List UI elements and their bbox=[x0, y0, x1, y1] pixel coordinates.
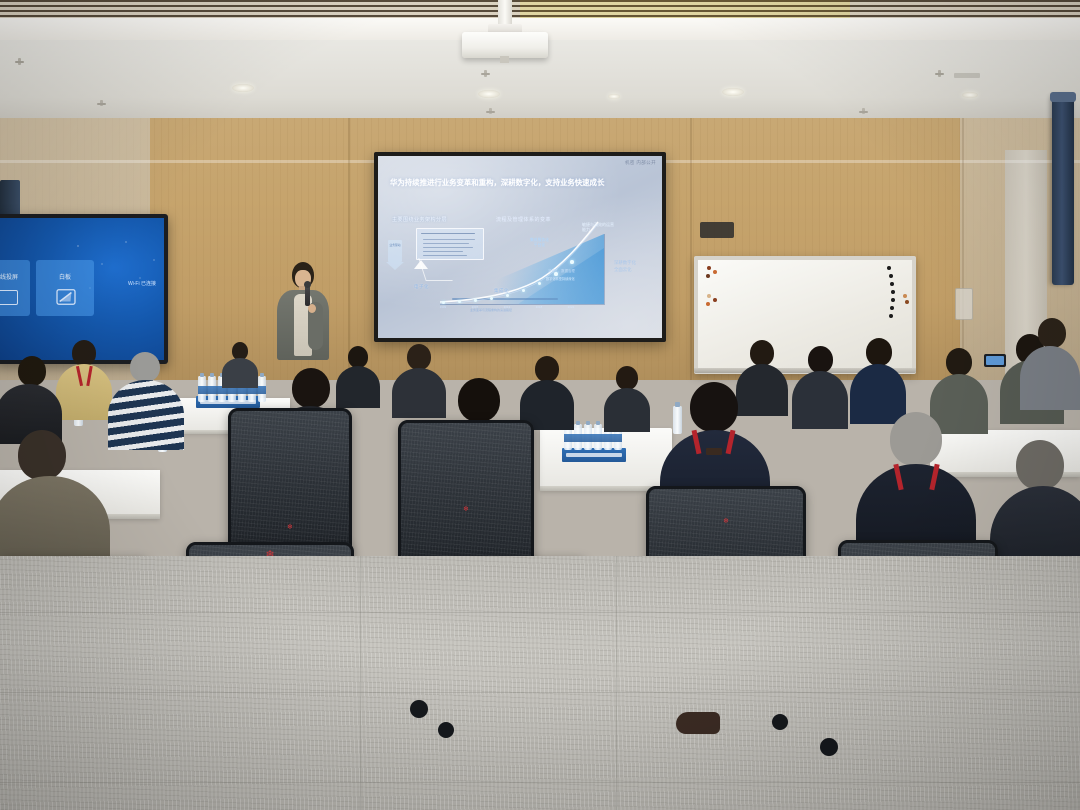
whiteboard-magnet[interactable] bbox=[707, 266, 711, 270]
whiteboard-magnet[interactable] bbox=[713, 270, 717, 274]
downlight bbox=[608, 94, 620, 99]
attendee bbox=[110, 352, 182, 448]
badge-clip bbox=[706, 448, 722, 455]
bottle-label-band bbox=[564, 434, 622, 442]
whiteboard-magnet[interactable] bbox=[890, 282, 894, 286]
wall-vent-grille bbox=[700, 222, 734, 238]
table-sign-text bbox=[566, 453, 622, 457]
attendee-torso bbox=[56, 364, 112, 420]
chair-caster bbox=[772, 714, 788, 730]
whiteboard-magnet[interactable] bbox=[890, 306, 894, 310]
attendee-head bbox=[407, 344, 431, 370]
chair-caster bbox=[820, 738, 838, 756]
attendee bbox=[792, 346, 848, 426]
carpet-floor bbox=[0, 556, 1080, 810]
projector-brand-label bbox=[954, 73, 980, 78]
wall-speaker-bracket bbox=[1050, 92, 1076, 102]
chair-caster bbox=[410, 700, 428, 718]
attendee bbox=[0, 356, 62, 440]
attendee-head bbox=[72, 340, 96, 366]
screen-glare bbox=[378, 156, 662, 338]
projection-screen: 机密 内部公开 华为持续推进行业务变革和重构，深耕数字化，支持业务快速成长 主要… bbox=[378, 156, 662, 338]
whiteboard-magnet[interactable] bbox=[706, 274, 710, 278]
attendee-head bbox=[292, 368, 330, 408]
attendee-torso bbox=[222, 358, 258, 388]
wall-speaker bbox=[1052, 95, 1074, 285]
attendee-torso bbox=[604, 388, 650, 432]
huawei-logo-icon: ❄ bbox=[287, 524, 293, 531]
whiteboard-magnet[interactable] bbox=[713, 298, 717, 302]
bottle-cap bbox=[200, 373, 204, 377]
sprinkler-head bbox=[484, 70, 487, 77]
conference-room-photo: 机密 内部公开 华为持续推进行业务变革和重构，深耕数字化，支持业务快速成长 主要… bbox=[0, 0, 1080, 810]
huawei-logo-icon: ❄ bbox=[723, 518, 729, 525]
whiteboard-magnet[interactable] bbox=[707, 294, 711, 298]
whiteboard-magnet[interactable] bbox=[887, 266, 891, 270]
wall-panel-seam bbox=[348, 118, 350, 380]
carpet-tile-seam bbox=[0, 612, 1080, 613]
attendee bbox=[1020, 318, 1080, 408]
whiteboard-magnet[interactable] bbox=[891, 290, 895, 294]
wall-control-panel[interactable] bbox=[955, 288, 973, 320]
attendee-head bbox=[866, 338, 892, 366]
bottle-cap bbox=[210, 373, 214, 377]
bottle-cap bbox=[596, 421, 600, 425]
attendee-head bbox=[18, 356, 46, 386]
attendee bbox=[850, 338, 906, 422]
attendee bbox=[222, 342, 258, 386]
display-tile-whiteboard-label: 白板 bbox=[36, 272, 94, 281]
display-tile-whiteboard[interactable]: 白板 bbox=[36, 260, 94, 316]
attendee-head bbox=[458, 378, 500, 422]
whiteboard-magnet[interactable] bbox=[889, 274, 893, 278]
attendee-head bbox=[1038, 318, 1066, 348]
display-status-label: Wi-Fi 已连接 bbox=[128, 280, 156, 287]
whiteboard-magnet[interactable] bbox=[903, 294, 907, 298]
carpet-tile-seam bbox=[616, 556, 617, 810]
attendee bbox=[604, 366, 650, 428]
whiteboard-magnet[interactable] bbox=[889, 314, 893, 318]
attendee bbox=[56, 340, 112, 420]
chair-backrest: ❄ bbox=[228, 408, 352, 554]
whiteboard-magnet[interactable] bbox=[905, 300, 909, 304]
attendee-head bbox=[750, 340, 774, 366]
carpet-tile-seam bbox=[0, 782, 1080, 783]
whiteboard-magnet[interactable] bbox=[891, 298, 895, 302]
shoe bbox=[676, 712, 720, 734]
sprinkler-head bbox=[100, 100, 103, 106]
bottle-cap bbox=[260, 373, 264, 377]
office-chair[interactable]: ❄ bbox=[228, 408, 352, 554]
microphone-head bbox=[304, 281, 311, 288]
whiteboard-magnet[interactable] bbox=[706, 302, 710, 306]
presenter bbox=[272, 262, 334, 360]
carpet-tile-seam bbox=[360, 556, 361, 810]
whiteboard-icon bbox=[55, 288, 77, 306]
sprinkler-head bbox=[18, 58, 21, 65]
downlight bbox=[232, 84, 254, 92]
attendee-head bbox=[18, 430, 66, 480]
attendee-head bbox=[808, 346, 833, 373]
attendee-head bbox=[946, 348, 972, 376]
wall-panel-seam bbox=[962, 118, 964, 380]
downlight bbox=[722, 88, 744, 96]
attendee-head bbox=[616, 366, 638, 390]
carpet-tile-seam bbox=[0, 692, 1080, 693]
sprinkler-head bbox=[489, 108, 492, 114]
attendee bbox=[520, 356, 574, 428]
cast-icon bbox=[0, 290, 18, 305]
attendee-head bbox=[348, 346, 368, 368]
huawei-logo-icon: ❄ bbox=[463, 506, 469, 513]
display-tile-cast-label: 无线投屏 bbox=[0, 272, 30, 281]
sprinkler-head bbox=[938, 70, 941, 77]
attendee-head bbox=[535, 356, 559, 382]
chair-caster bbox=[438, 722, 454, 738]
projector-lens-housing bbox=[500, 56, 509, 63]
ideahub-display[interactable]: 无线投屏 白板 Wi-Fi 已连接 bbox=[0, 218, 164, 360]
display-tile-cast[interactable]: 无线投屏 bbox=[0, 260, 30, 316]
downlight bbox=[962, 92, 978, 98]
attendee-head bbox=[130, 352, 160, 382]
chair-frame bbox=[228, 408, 352, 554]
wall-panel-seam bbox=[690, 118, 692, 380]
bottle-cap bbox=[576, 421, 580, 425]
ceiling-projector bbox=[462, 32, 548, 58]
smartphone-screen bbox=[986, 356, 1004, 365]
attendee-head bbox=[1016, 440, 1064, 490]
bottle-cap bbox=[586, 421, 590, 425]
attendee-head bbox=[890, 412, 942, 466]
downlight bbox=[478, 90, 500, 98]
sprinkler-head bbox=[862, 108, 865, 114]
attendee-head bbox=[690, 382, 738, 432]
attendee-torso bbox=[1020, 346, 1080, 410]
attendee-torso bbox=[108, 380, 184, 450]
attendee-torso bbox=[792, 371, 848, 429]
